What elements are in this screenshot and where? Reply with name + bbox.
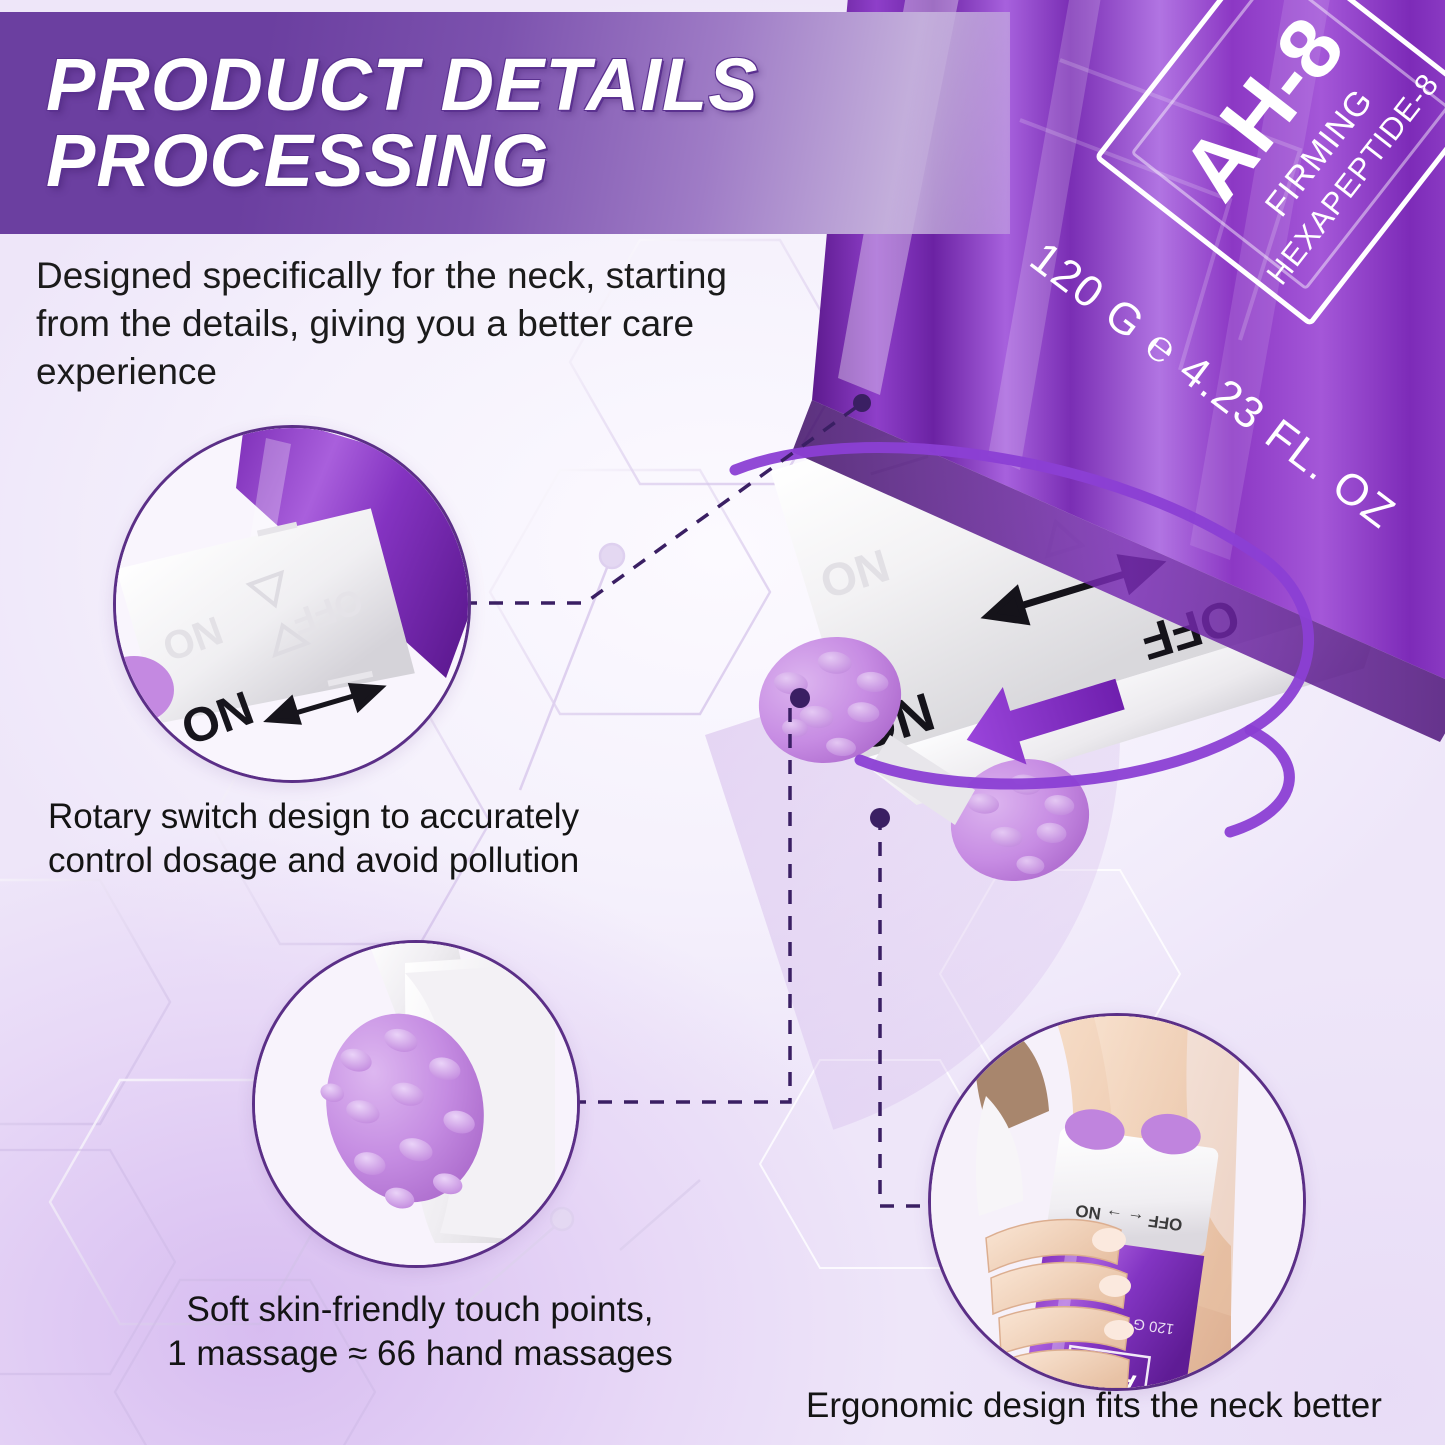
caption-massage-ball-line2: 1 massage ≈ 66 hand massages <box>140 1332 700 1376</box>
massage-ball-main-left <box>742 619 917 781</box>
rotation-arrow <box>955 655 1132 779</box>
inset-rotary-switch: NO OFF NO <box>113 425 471 783</box>
svg-text:OFF: OFF <box>1093 448 1191 521</box>
banner-title-line2: PROCESSING <box>46 123 1010 199</box>
brand-badge: AH-8 FIRMING HEXAPEPTIDE-8 <box>1097 0 1445 323</box>
caption-rotary-switch: Rotary switch design to accurately contr… <box>48 795 668 883</box>
product-detail-infographic: NO OFF NO OFF <box>0 0 1445 1445</box>
svg-text:AH-8: AH-8 <box>1164 0 1363 217</box>
subtitle-text: Designed specifically for the neck, star… <box>36 252 776 396</box>
svg-text:120 G ℮ 4.23 FL. OZ: 120 G ℮ 4.23 FL. OZ <box>1021 233 1405 539</box>
leader-anchor-dots <box>790 394 890 828</box>
applicator-head: NO OFF NO OFF <box>771 310 1405 818</box>
caption-massage-ball-line1: Soft skin-friendly touch points, <box>140 1288 700 1332</box>
svg-text:NO: NO <box>846 681 941 762</box>
banner-title-line1: PRODUCT DETAILS <box>46 47 1010 123</box>
rotation-indicator-ellipse <box>735 448 1309 832</box>
svg-text:NO: NO <box>814 539 895 609</box>
header-banner: PRODUCT DETAILS PROCESSING <box>0 12 1010 234</box>
massage-ball-main-right <box>935 741 1105 898</box>
svg-text:HEXAPEPTIDE-8: HEXAPEPTIDE-8 <box>1260 67 1445 292</box>
inset-massage-ball <box>252 940 580 1268</box>
caption-massage-ball: Soft skin-friendly touch points, 1 massa… <box>140 1288 700 1376</box>
inset-neck-usage: OFF ← → NO 120 G 4.23 FL OZ AH-8 <box>928 1013 1306 1391</box>
caption-neck-ergonomic: Ergonomic design fits the neck better <box>806 1384 1426 1428</box>
svg-text:FIRMING: FIRMING <box>1258 82 1381 224</box>
svg-text:OFF: OFF <box>1134 588 1246 671</box>
